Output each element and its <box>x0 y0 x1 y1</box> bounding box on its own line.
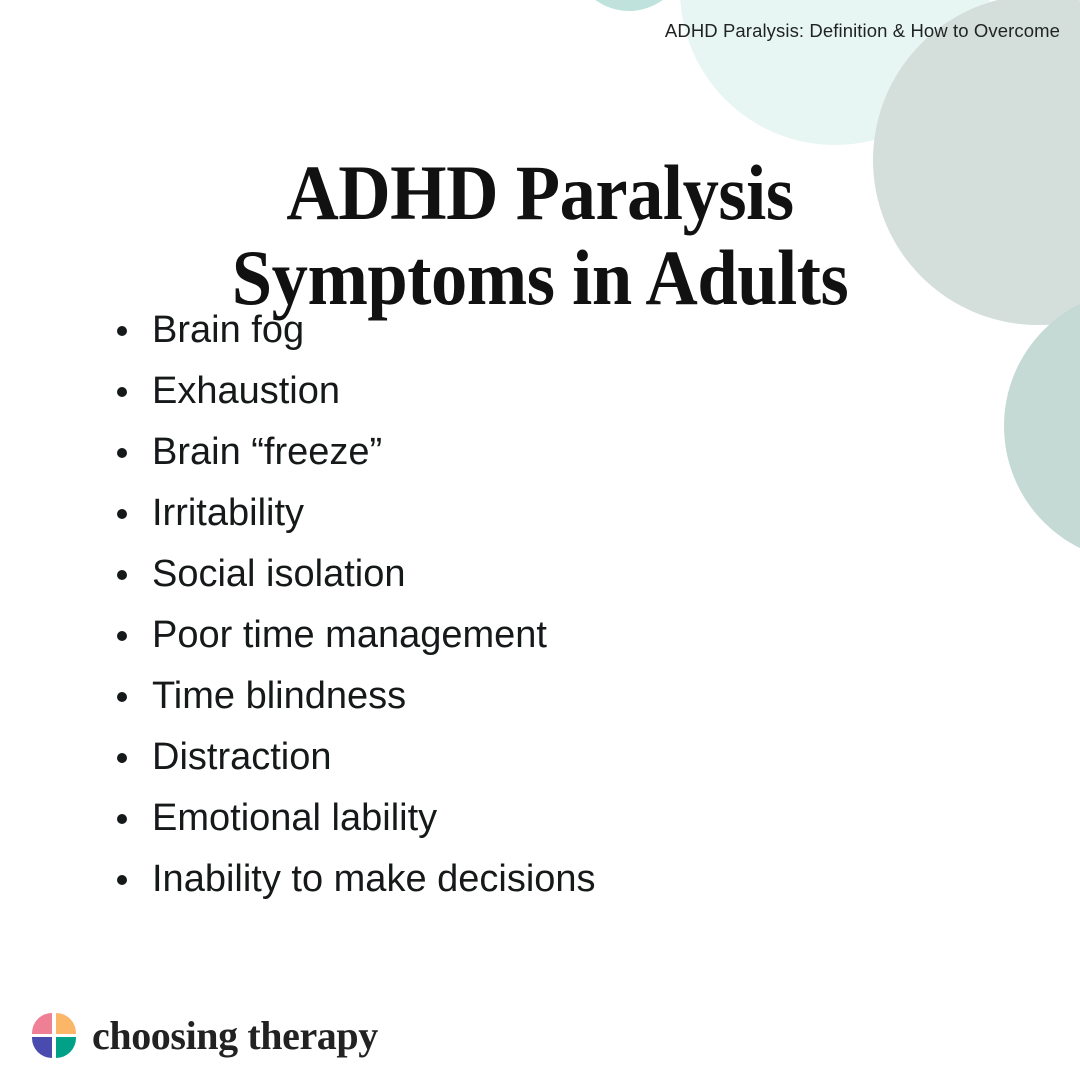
list-item-label: Distraction <box>152 736 332 778</box>
list-item: Irritability <box>108 483 596 544</box>
list-item-label: Irritability <box>152 492 304 534</box>
bullet-icon <box>117 387 127 397</box>
bullet-icon <box>117 570 127 580</box>
list-item-label: Poor time management <box>152 614 547 656</box>
list-item: Distraction <box>108 727 596 788</box>
list-item: Inability to make decisions <box>108 849 596 910</box>
list-item: Time blindness <box>108 666 596 727</box>
brand-logo: choosing therapy <box>32 1013 378 1058</box>
list-item: Brain fog <box>108 300 596 361</box>
bullet-icon <box>117 692 127 702</box>
logo-quadrant-bottom-right <box>56 1037 76 1058</box>
page-title: ADHD Paralysis Symptoms in Adults <box>38 150 1042 320</box>
logo-quadrant-top-left <box>32 1013 52 1034</box>
list-item: Brain “freeze” <box>108 422 596 483</box>
bullet-icon <box>117 875 127 885</box>
list-item-label: Exhaustion <box>152 370 340 412</box>
slide-canvas: ADHD Paralysis: Definition & How to Over… <box>0 0 1080 1080</box>
brand-wordmark: choosing therapy <box>92 1016 378 1056</box>
bullet-icon <box>117 509 127 519</box>
bullet-icon <box>117 814 127 824</box>
list-item-label: Brain “freeze” <box>152 431 382 473</box>
list-item: Social isolation <box>108 544 596 605</box>
list-item-label: Emotional lability <box>152 797 437 839</box>
list-item: Exhaustion <box>108 361 596 422</box>
list-item: Poor time management <box>108 605 596 666</box>
symptom-list: Brain fog Exhaustion Brain “freeze” Irri… <box>108 300 596 910</box>
logo-quadrant-bottom-left <box>32 1037 52 1058</box>
list-item-label: Time blindness <box>152 675 406 717</box>
decorative-circle-teal-lower <box>1004 290 1080 562</box>
decorative-circle-teal-small <box>572 0 686 11</box>
list-item-label: Brain fog <box>152 309 304 351</box>
choosing-therapy-logo-icon <box>32 1013 76 1058</box>
bullet-icon <box>117 753 127 763</box>
page-title-line-1: ADHD Paralysis <box>38 150 1042 235</box>
bullet-icon <box>117 448 127 458</box>
list-item: Emotional lability <box>108 788 596 849</box>
bullet-icon <box>117 326 127 336</box>
article-header-title: ADHD Paralysis: Definition & How to Over… <box>665 20 1060 42</box>
list-item-label: Inability to make decisions <box>152 858 596 900</box>
list-item-label: Social isolation <box>152 553 405 595</box>
bullet-icon <box>117 631 127 641</box>
logo-quadrant-top-right <box>56 1013 76 1034</box>
